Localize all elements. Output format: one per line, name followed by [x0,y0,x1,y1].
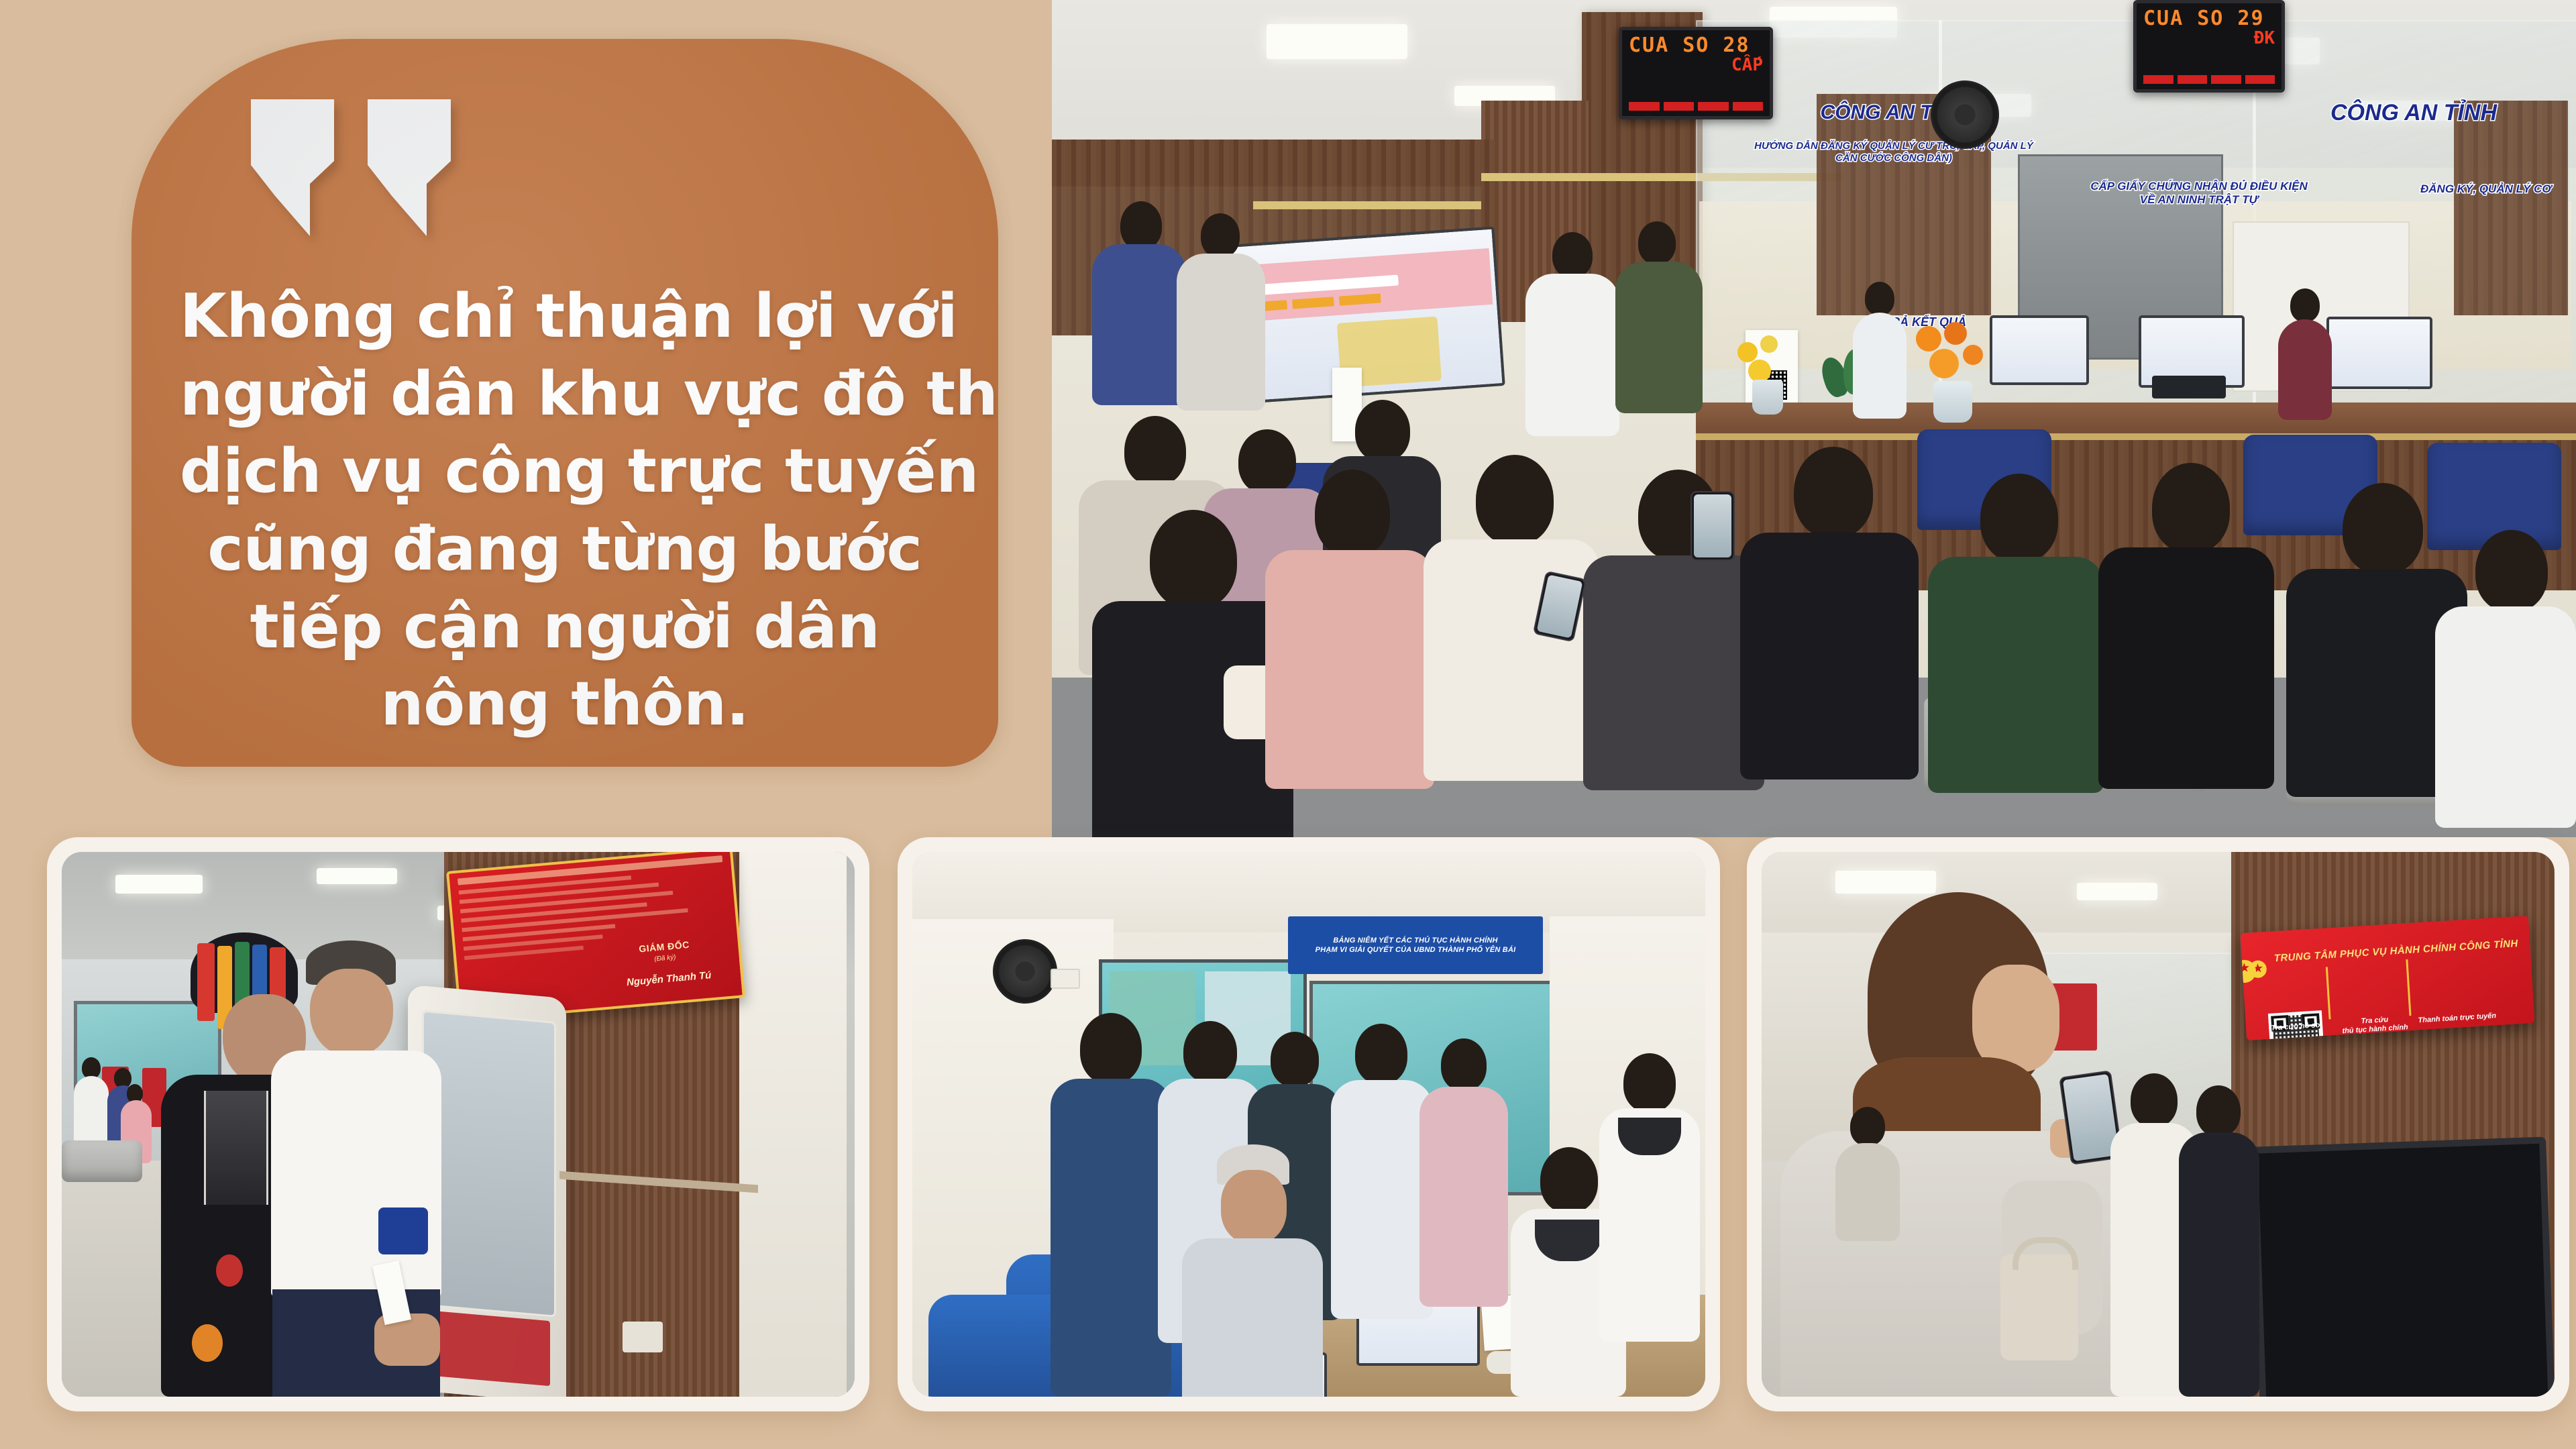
embroidery-motif [216,1254,243,1287]
ceiling-light [115,875,203,894]
sign-line-1: ĐĂNG KÝ, QUẢN LÝ CƠ [2420,182,2576,196]
board-line-2: PHẠM VI GIẢI QUYẾT CỦA UBND THÀNH PHỐ YÊ… [1316,945,1516,955]
sign-cong-an-tinh-right: CÔNG AN TỈNH [2239,99,2576,126]
cabinet-wood [2454,101,2568,315]
quote-mark-icon-second [362,95,456,240]
photo-frame-inner: GIÁM ĐỐC (Đã ký) Nguyễn Thanh Tú [62,852,855,1397]
sign-line-1: CẤP GIẤY CHỨNG NHẬN ĐỦ ĐIỀU KIỆN [2038,180,2360,193]
photo-frame-inner: TRUNG TÂM PHỤC VỤ HÀNH CHÍNH CÔNG TỈNH [1762,852,2555,1397]
bench-seat [62,1140,142,1182]
person-standing [1419,1038,1508,1307]
photo-one-stop-counter: BẢNG NIÊM YẾT CÁC THỦ TỤC HÀNH CHÍNH PHẠ… [898,837,1720,1411]
brass-trim [1253,201,1481,209]
wall-fan [993,939,1057,1004]
layout-stage: Không chỉ thuận lợi với người dân khu vự… [0,0,2576,1449]
person-seated-elderly [1182,1144,1323,1397]
person-standing [1092,201,1186,402]
person-foreground [1265,470,1434,785]
hair-long [1535,1220,1602,1261]
headdress-tassel [197,943,215,1021]
kiosk-scene: GIÁM ĐỐC (Đã ký) Nguyễn Thanh Tú [62,852,855,1397]
person-foreground [2435,530,2576,825]
quote-card: Không chỉ thuận lợi với người dân khu vự… [131,39,998,767]
face-profile [1972,965,2059,1072]
counter-monitor [2326,317,2432,389]
quote-line-4: cũng đang từng bước [180,511,950,588]
board-line-1: BẢNG NIÊM YẾT CÁC THỦ TỤC HÀNH CHÍNH [1333,936,1497,945]
quote-line-5: tiếp cận người dân [180,588,950,666]
qr-service-banner: TRUNG TÂM PHỤC VỤ HÀNH CHÍNH CÔNG TỈNH [2241,916,2535,1040]
person-standing [1177,213,1265,408]
smartphone [1690,491,1735,561]
ceiling-light [1835,871,1936,894]
qr-scene: TRUNG TÂM PHỤC VỤ HÀNH CHÍNH CÔNG TỈNH [1762,852,2555,1397]
person-foreground [1092,510,1293,837]
keyboard [2152,376,2226,398]
led-line-1: CUA SO 28 [1629,36,1763,56]
sign-line-2: CĂN CƯỚC CÔNG DÂN) [1750,152,2038,164]
power-outlet [623,1322,663,1352]
qr-banner-title: TRUNG TÂM PHỤC VỤ HÀNH CHÍNH CÔNG TỈNH [2273,938,2518,964]
led-segment-bar [2143,75,2275,84]
wood-header-beam [1052,140,1495,186]
face [1221,1170,1287,1244]
quote-line-3: dịch vụ công trực tuyến [180,433,950,511]
person-officer [267,941,443,1397]
white-wall [739,852,847,1397]
person-standing [1331,1024,1433,1319]
sign-line-2: VỀ AN NINH TRẬT TỰ [2038,193,2360,207]
sign-detail-left: CẤP GIẤY CHỨNG NHẬN ĐỦ ĐIỀU KIỆN VỀ AN N… [2038,180,2360,207]
person-standing [1525,232,1619,433]
led-counter-display-29: CUA SO 29 ĐK [2133,0,2285,93]
dress-trim [204,1091,268,1205]
face [310,969,393,1057]
person-foreground [2098,463,2274,785]
counter-monitor [1990,315,2089,385]
led-segment-bar [1629,102,1763,111]
plaque-signature-name: Nguyễn Thanh Tú [612,968,727,989]
staff-member [2277,288,2333,416]
shirt [1182,1238,1323,1397]
administrative-notice-board: BẢNG NIÊM YẾT CÁC THỦ TỤC HÀNH CHÍNH PHẠ… [1288,916,1543,974]
quote-line-1: Không chỉ thuận lợi với [180,278,950,356]
photo-qr-scanning: TRUNG TÂM PHỤC VỤ HÀNH CHÍNH CÔNG TỈNH [1747,837,2569,1411]
person-standing [1615,221,1703,409]
photo-kiosk-assistance: GIÁM ĐỐC (Đã ký) Nguyễn Thanh Tú [47,837,869,1411]
person-foreground [1583,470,1764,785]
staff-officer [1599,1053,1700,1342]
power-socket [1051,969,1080,989]
led-line-1: CUA SO 29 [2143,9,2275,29]
person-background [74,1057,109,1151]
person-background [2179,1085,2259,1397]
embroidery-motif [192,1324,223,1362]
person-standing [1051,1013,1171,1397]
photo-frame-inner: BẢNG NIÊM YẾT CÁC THỦ TỤC HÀNH CHÍNH PHẠ… [912,852,1705,1397]
hair-long [1618,1118,1681,1155]
flower-vase-left [1728,335,1809,416]
counter-brass-trim [1696,433,2576,440]
sign-line-1: HƯỚNG DẪN ĐĂNG KÝ QUẢN LÝ CƯ TRÚ, CẤP, Q… [1750,140,2038,152]
counter-scene: BẢNG NIÊM YẾT CÁC THỦ TỤC HÀNH CHÍNH PHẠ… [912,852,1705,1397]
sign-detail-right: ĐĂNG KÝ, QUẢN LÝ CƠ [2420,182,2576,196]
person-foreground [1928,474,2104,789]
led-line-2: ĐK [2143,29,2275,48]
hero-scene: CUA SO 28 CẤP CUA SO 29 ĐK CÔNG AN TỈNH … [1052,0,2576,837]
hero-photo: CUA SO 28 CẤP CUA SO 29 ĐK CÔNG AN TỈNH … [1052,0,2576,837]
ceiling-light [317,868,397,884]
handbag [2000,1254,2078,1360]
staff-member [1850,282,1908,416]
emblem-star-icon [2241,959,2257,983]
sign-title: CÔNG AN TỈNH [2239,99,2576,126]
flower-vase-right [1902,322,2003,423]
person-background [1835,1107,1900,1241]
quote-mark-group [246,95,467,243]
quote-line-2: người dân khu vực đô thị, [180,356,950,433]
quote-mark-icon [246,95,339,240]
blue-chair [928,1295,1056,1397]
quote-text: Không chỉ thuận lợi với người dân khu vự… [180,278,950,743]
ceiling-light [1267,24,1407,59]
quote-line-6: nông thôn. [180,665,950,743]
white-shirt [271,1051,441,1297]
person-foreground [1740,447,1919,775]
shirt-cuff [378,1207,428,1254]
information-display-screen [2251,1136,2555,1397]
led-line-2: CẤP [1629,56,1763,75]
wall-fan [1931,80,1999,149]
qr-label-online-payment: Thanh toán trực tuyến [2418,1012,2498,1025]
